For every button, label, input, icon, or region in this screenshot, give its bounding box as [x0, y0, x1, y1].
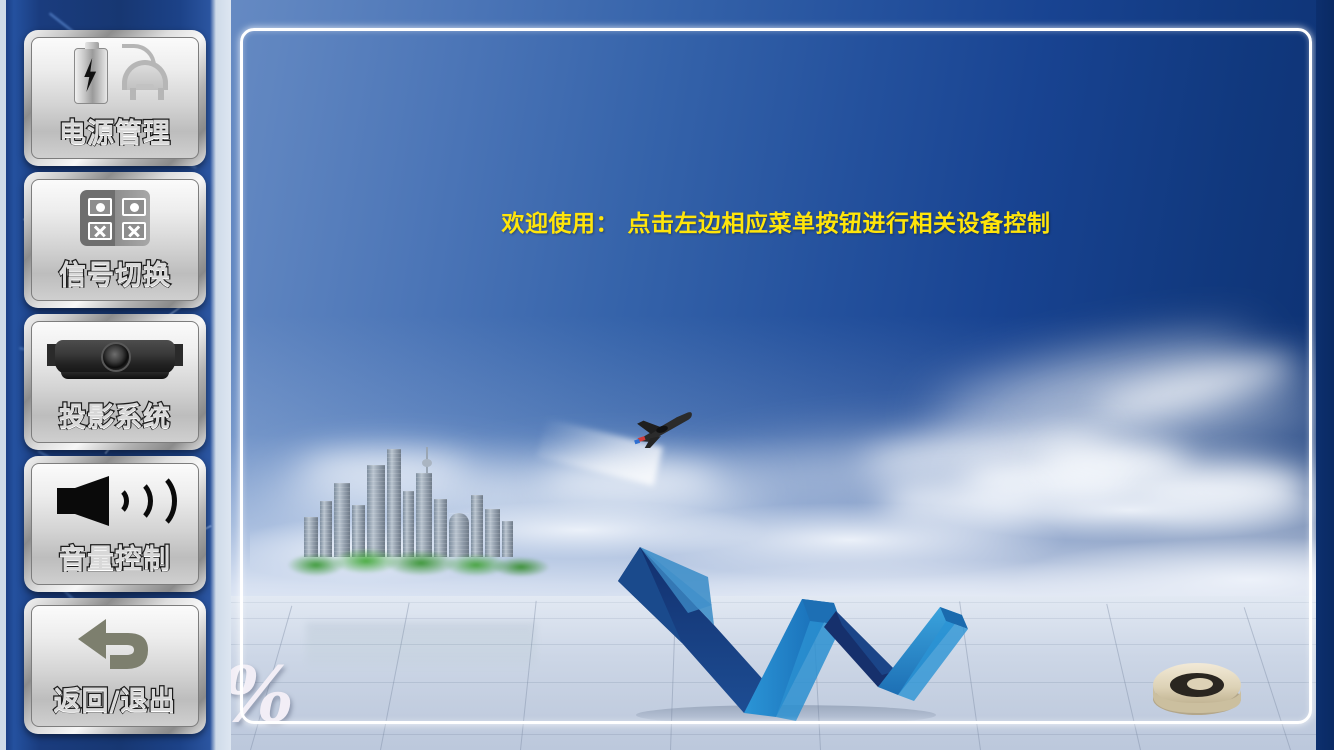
sidebar-item-label: 返回/退出: [32, 676, 198, 720]
button-surface: 信号切换: [31, 179, 199, 301]
sidebar-item-volume-control[interactable]: 音量控制: [24, 456, 206, 592]
back-arrow-icon: [32, 612, 198, 676]
percent-symbol-graphic: %: [222, 655, 292, 735]
right-edge-strip: [1316, 0, 1334, 750]
city-island-graphic: [286, 455, 556, 615]
sidebar-item-projection-system[interactable]: 投影系统: [24, 314, 206, 450]
app-root: % 欢迎使用： 点击左边相应菜单按钮进行相关设备控制: [0, 0, 1334, 750]
sidebar-item-signal-switch[interactable]: 信号切换: [24, 172, 206, 308]
zigzag-arrow-graphic: [596, 525, 996, 730]
sidebar-item-power-management[interactable]: 电源管理: [24, 30, 206, 166]
sidebar-item-label: 投影系统: [32, 392, 198, 436]
button-surface: 电源管理: [31, 37, 199, 159]
sidebar-item-label: 电源管理: [32, 108, 198, 152]
sidebar-item-label: 音量控制: [32, 534, 198, 578]
battery-plug-icon: [32, 44, 198, 108]
welcome-message: 欢迎使用： 点击左边相应菜单按钮进行相关设备控制: [240, 204, 1312, 238]
button-surface: 投影系统: [31, 321, 199, 443]
projector-icon: [32, 328, 198, 392]
airplane-icon: [628, 410, 698, 448]
speaker-volume-icon: [32, 470, 198, 534]
sidebar-item-back-exit[interactable]: 返回/退出: [24, 598, 206, 734]
button-surface: 返回/退出: [31, 605, 199, 727]
at-symbol-graphic: [1148, 655, 1246, 721]
sidebar-item-label: 信号切换: [32, 250, 198, 294]
city-island-reflection: [286, 612, 556, 682]
signal-grid-icon: [32, 186, 198, 250]
button-surface: 音量控制: [31, 463, 199, 585]
